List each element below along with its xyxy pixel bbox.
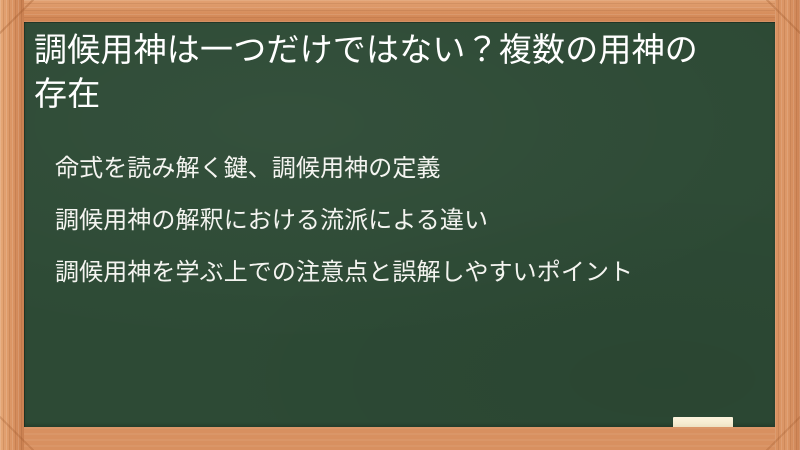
frame-rail-bottom [0,427,800,450]
frame-stile-left [0,0,24,450]
blackboard-slide: 調候用神は一つだけではない？複数の用神の存在 命式を読み解く鍵、調候用神の定義 … [0,0,800,450]
chalk-stick-icon [673,417,733,427]
page-title: 調候用神は一つだけではない？複数の用神の存在 [34,28,724,116]
list-item: 調候用神を学ぶ上での注意点と誤解しやすいポイント [55,256,755,289]
list-item: 命式を読み解く鍵、調候用神の定義 [55,152,755,185]
topic-list: 命式を読み解く鍵、調候用神の定義 調候用神の解釈における流派による違い 調候用神… [55,152,755,289]
frame-rail-top [0,0,800,22]
frame-stile-right [775,0,800,450]
list-item: 調候用神の解釈における流派による違い [55,204,755,237]
chalkboard-surface: 調候用神は一つだけではない？複数の用神の存在 命式を読み解く鍵、調候用神の定義 … [24,22,775,427]
